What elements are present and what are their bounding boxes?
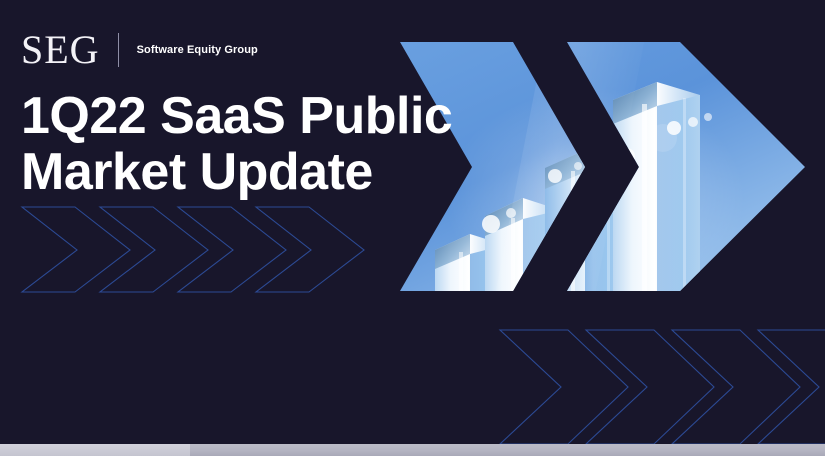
slide-title-line-2: Market Update bbox=[21, 144, 491, 200]
seg-logo: SEG Software Equity Group bbox=[21, 27, 258, 73]
viewer-scrollbar-thumb[interactable] bbox=[0, 444, 190, 456]
logo-divider bbox=[118, 33, 119, 67]
slide-title: 1Q22 SaaS Public Market Update bbox=[21, 88, 491, 200]
presentation-slide: SEG Software Equity Group 1Q22 SaaS Publ… bbox=[0, 0, 825, 456]
seg-wordmark: Software Equity Group bbox=[137, 44, 258, 56]
viewer-scrollbar[interactable] bbox=[0, 444, 825, 456]
seg-logo-mark: SEG bbox=[21, 30, 100, 70]
slide-title-line-1: 1Q22 SaaS Public bbox=[21, 88, 491, 144]
